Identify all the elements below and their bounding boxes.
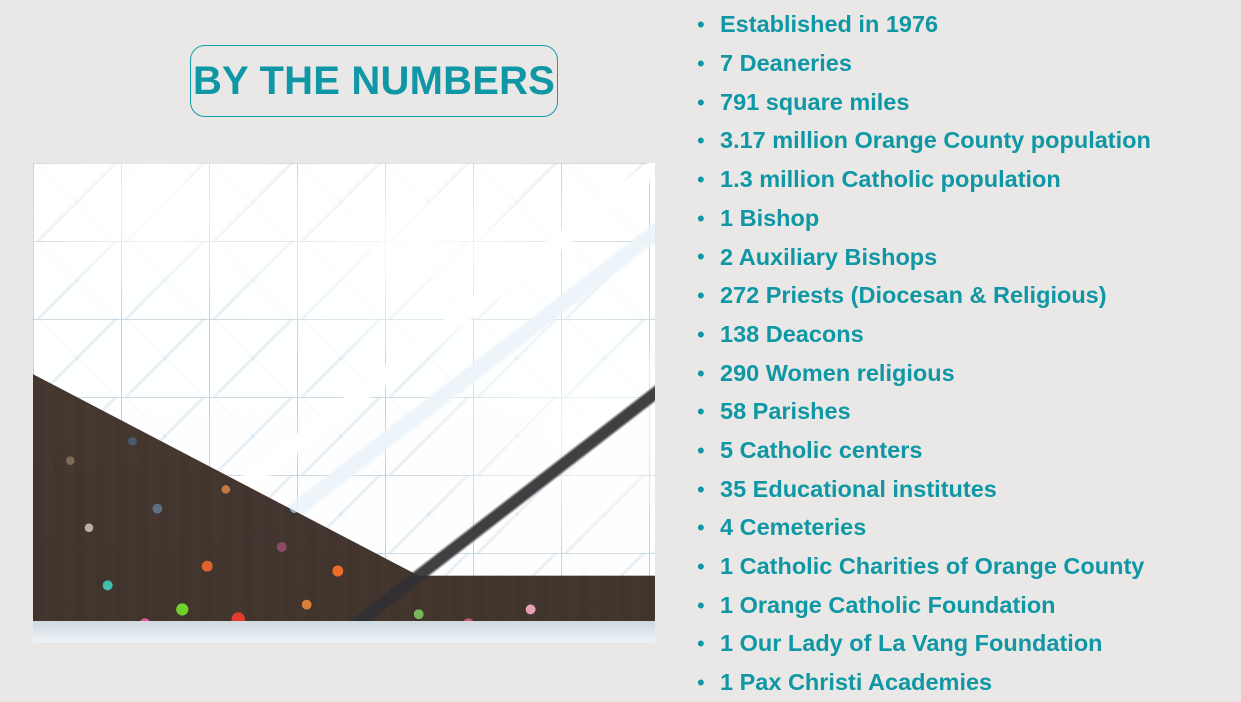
list-item-label: 4 Cemeteries <box>720 515 866 541</box>
list-item-label: 1 Our Lady of La Vang Foundation <box>720 631 1103 657</box>
list-item: •1 Our Lady of La Vang Foundation <box>697 625 1241 664</box>
list-item: •3.17 million Orange County population <box>697 122 1241 161</box>
bullet-icon: • <box>697 440 720 462</box>
list-item: •1 Pax Christi Academies <box>697 664 1241 702</box>
list-item: •Established in 1976 <box>697 6 1241 45</box>
list-item: •272 Priests (Diocesan & Religious) <box>697 277 1241 316</box>
bullet-icon: • <box>697 169 720 191</box>
list-item-label: 5 Catholic centers <box>720 438 922 464</box>
page-title: BY THE NUMBERS <box>193 61 555 101</box>
list-item: •138 Deacons <box>697 316 1241 355</box>
bullet-icon: • <box>697 556 720 578</box>
list-item-label: 1 Catholic Charities of Orange County <box>720 554 1144 580</box>
list-item: •5 Catholic centers <box>697 432 1241 471</box>
facts-list: •Established in 1976•7 Deaneries•791 squ… <box>697 0 1241 697</box>
bullet-icon: • <box>697 363 720 385</box>
list-item: •1.3 million Catholic population <box>697 161 1241 200</box>
bullet-icon: • <box>697 401 720 423</box>
list-item-label: 1.3 million Catholic population <box>720 167 1061 193</box>
handrail <box>33 163 655 643</box>
list-item-label: Established in 1976 <box>720 12 938 38</box>
list-item: •290 Women religious <box>697 354 1241 393</box>
bullet-icon: • <box>697 517 720 539</box>
list-item: •35 Educational institutes <box>697 470 1241 509</box>
list-item-label: 138 Deacons <box>720 322 864 348</box>
bullet-icon: • <box>697 479 720 501</box>
cathedral-crowd-photo <box>33 163 655 643</box>
list-item-label: 1 Pax Christi Academies <box>720 670 992 696</box>
list-item-label: 3.17 million Orange County population <box>720 128 1151 154</box>
bullet-icon: • <box>697 246 720 268</box>
bullet-icon: • <box>697 208 720 230</box>
list-item-label: 290 Women religious <box>720 361 955 387</box>
list-item: •791 square miles <box>697 83 1241 122</box>
list-item-label: 1 Bishop <box>720 206 819 232</box>
bullet-icon: • <box>697 672 720 694</box>
slide-by-the-numbers: { "slide": { "title": "BY THE NUMBERS", … <box>0 0 1241 697</box>
bullet-icon: • <box>697 14 720 36</box>
bullet-icon: • <box>697 53 720 75</box>
list-item-label: 2 Auxiliary Bishops <box>720 245 937 271</box>
bullet-icon: • <box>697 633 720 655</box>
list-item: •4 Cemeteries <box>697 509 1241 548</box>
list-item: •1 Bishop <box>697 199 1241 238</box>
bullet-icon: • <box>697 130 720 152</box>
list-item-label: 1 Orange Catholic Foundation <box>720 593 1056 619</box>
list-item-label: 58 Parishes <box>720 399 851 425</box>
list-item: •7 Deaneries <box>697 45 1241 84</box>
list-item: •58 Parishes <box>697 393 1241 432</box>
list-item-label: 272 Priests (Diocesan & Religious) <box>720 283 1107 309</box>
list-item-label: 35 Educational institutes <box>720 477 997 503</box>
list-item-label: 7 Deaneries <box>720 51 852 77</box>
bullet-icon: • <box>697 285 720 307</box>
title-box: BY THE NUMBERS <box>190 45 558 117</box>
left-column: BY THE NUMBERS <box>0 0 680 697</box>
list-item-label: 791 square miles <box>720 90 909 116</box>
bullet-icon: • <box>697 324 720 346</box>
list-item: •1 Catholic Charities of Orange County <box>697 548 1241 587</box>
list-item: •2 Auxiliary Bishops <box>697 238 1241 277</box>
bullet-icon: • <box>697 92 720 114</box>
bullet-icon: • <box>697 595 720 617</box>
list-item: •1 Orange Catholic Foundation <box>697 586 1241 625</box>
floor-strip <box>33 621 655 643</box>
